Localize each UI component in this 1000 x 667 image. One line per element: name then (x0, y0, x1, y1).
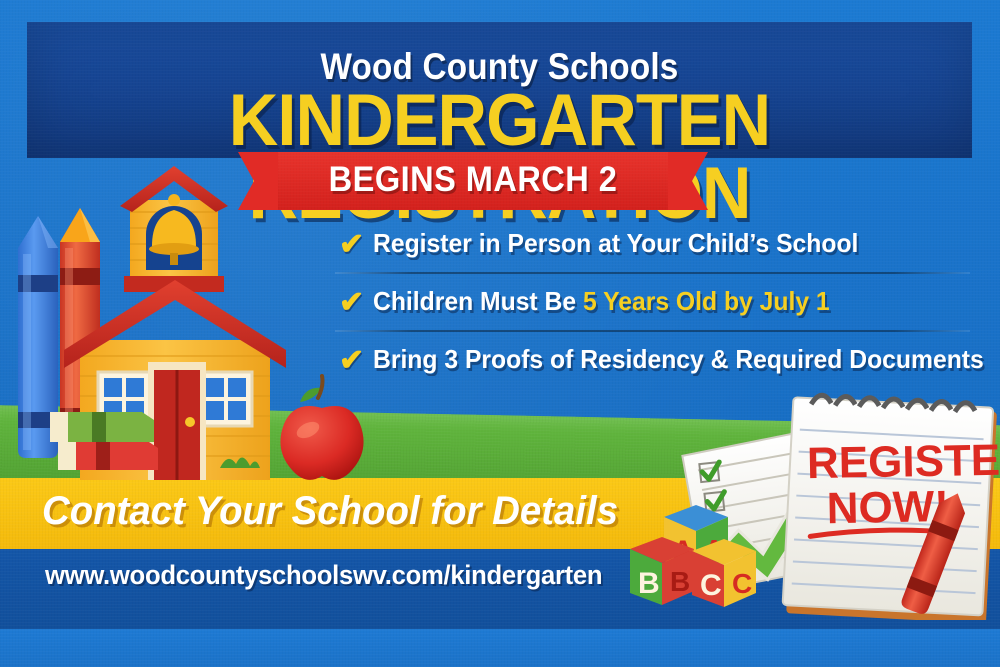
notepad-register-text: REGISTER (807, 435, 1000, 488)
kindergarten-registration-flyer: REGISTER NOW! A A (0, 0, 1000, 667)
list-item: ✔ Children Must Be 5 Years Old by July 1 (335, 286, 973, 330)
books-icon (50, 412, 158, 470)
svg-text:C: C (732, 568, 752, 599)
window-right (200, 372, 252, 426)
svg-text:B: B (670, 566, 690, 597)
block-b: B B (630, 537, 694, 605)
check-icon: ✔ (339, 230, 364, 260)
requirements-list: ✔ Register in Person at Your Child’s Sch… (335, 228, 973, 388)
list-divider (335, 272, 970, 274)
notepad: REGISTER NOW! (782, 394, 1000, 620)
list-divider (335, 330, 970, 332)
list-item-label: Children Must Be 5 Years Old by July 1 (373, 286, 830, 317)
svg-text:B: B (638, 567, 660, 600)
block-c: C C (692, 539, 756, 607)
ribbon-label: BEGINS MARCH 2 (254, 160, 691, 200)
check-icon: ✔ (339, 288, 364, 318)
svg-text:C: C (700, 569, 722, 602)
list-item-label: Bring 3 Proofs of Residency & Required D… (373, 344, 984, 375)
list-item-label: Register in Person at Your Child’s Schoo… (373, 228, 858, 259)
begins-date-ribbon: BEGINS MARCH 2 (238, 152, 708, 210)
contact-headline: Contact Your School for Details (42, 489, 618, 534)
list-item: ✔ Register in Person at Your Child’s Sch… (335, 228, 973, 272)
website-url[interactable]: www.woodcountyschoolswv.com/kindergarten (45, 560, 602, 591)
background-footer-band (0, 629, 1000, 667)
notepad-illustration: REGISTER NOW! A A (620, 375, 1000, 620)
check-icon: ✔ (339, 346, 364, 376)
header-panel: Wood County Schools KINDERGARTEN REGISTR… (27, 22, 972, 158)
apple-icon (280, 376, 363, 480)
list-item: ✔ Bring 3 Proofs of Residency & Required… (335, 344, 973, 388)
